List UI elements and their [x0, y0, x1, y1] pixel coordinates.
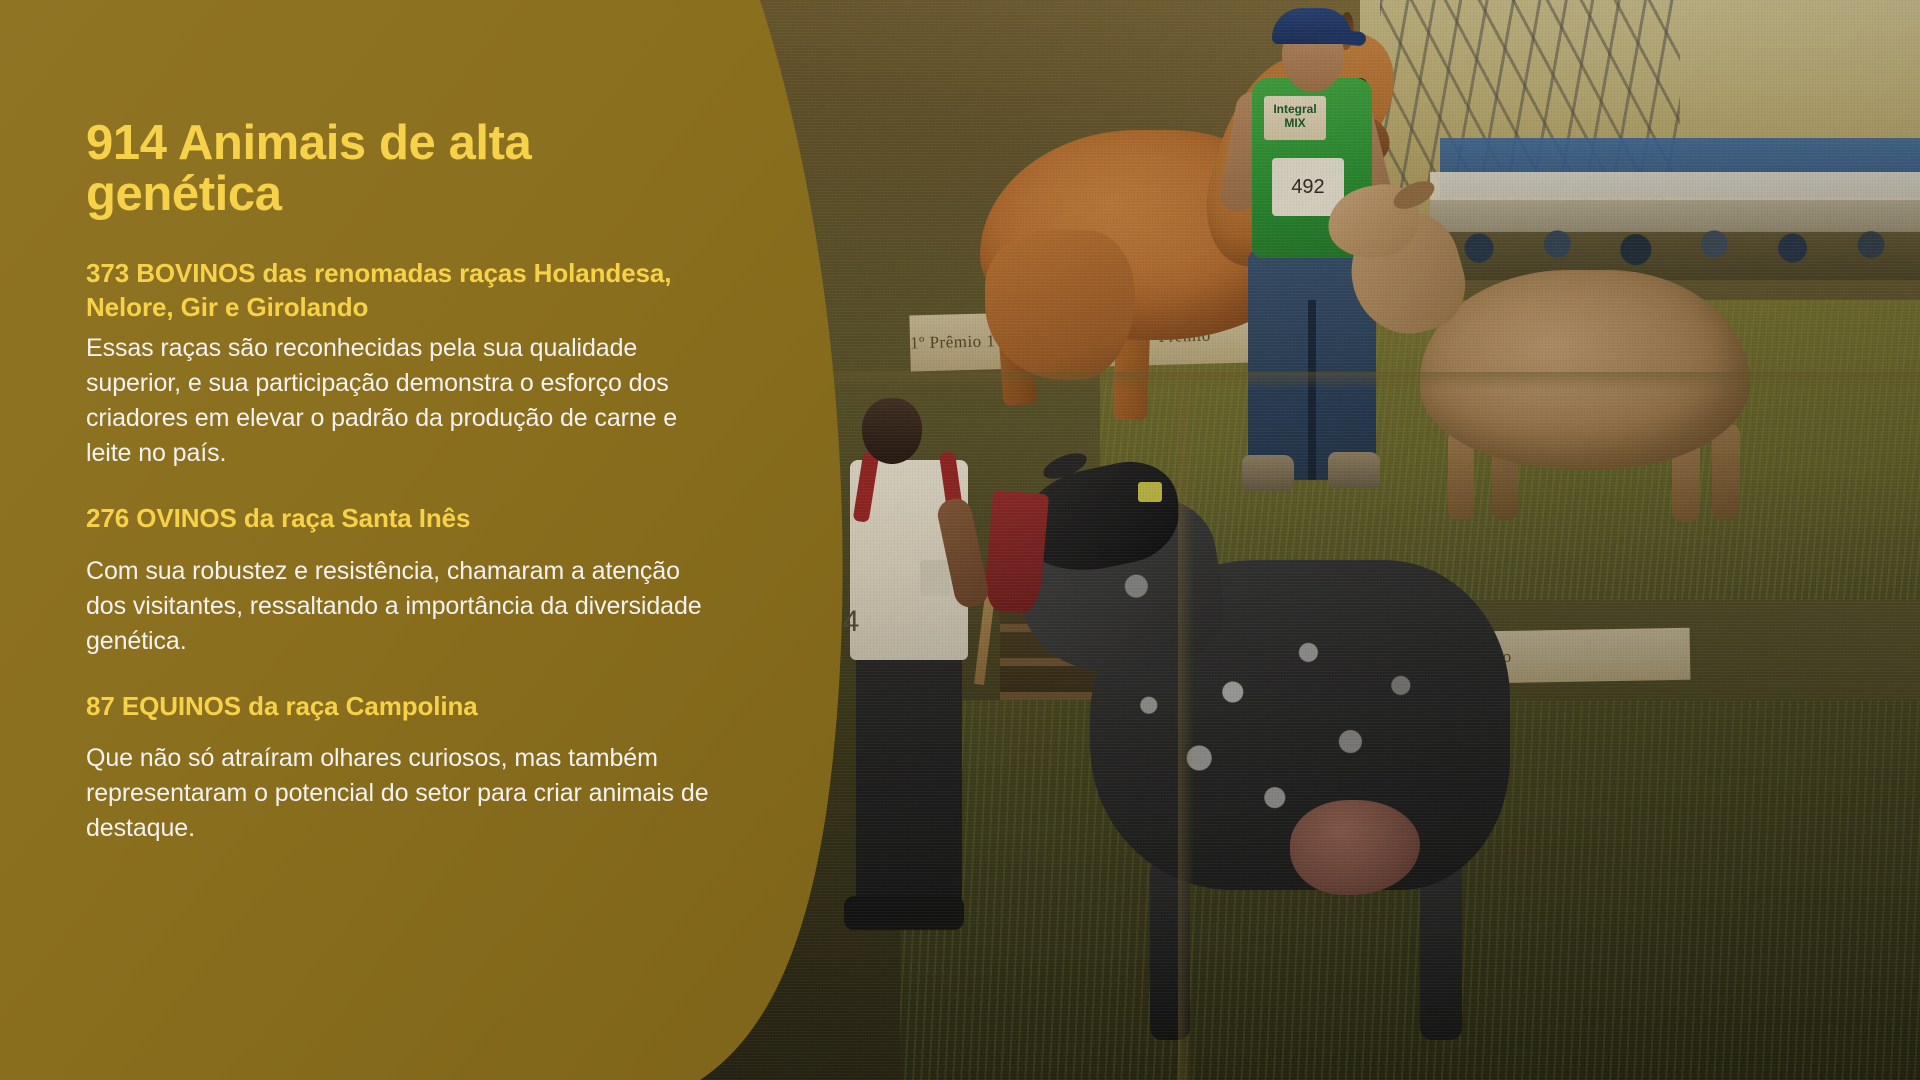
section-equinos-body: Que não só atraíram olhares curiosos, ma… — [86, 741, 726, 846]
cow-ear-tag — [1138, 482, 1162, 502]
child-handler-legs — [856, 650, 962, 910]
section-bovinos-body: Essas raças são reconhecidas pela sua qu… — [86, 331, 726, 471]
section-bovinos: 373 BOVINOS das renomadas raças Holandes… — [86, 256, 726, 471]
child-handler-head — [862, 398, 922, 464]
slide-canvas: 1º Prêmio 1º Prêmio 1º Prêmio 1º Prêmio … — [0, 0, 1920, 1080]
child-handler-shoes — [844, 896, 964, 930]
child-handler-badge — [920, 560, 950, 596]
page-title: 914 Animais de alta genética — [86, 118, 726, 220]
horse-chest — [985, 230, 1135, 380]
child-apron-number: 44 — [826, 598, 886, 646]
text-content: 914 Animais de alta genética 373 BOVINOS… — [86, 118, 726, 846]
section-ovinos-body: Com sua robustez e resistência, chamaram… — [86, 554, 726, 659]
handler-leg-separation — [1308, 300, 1316, 480]
sheep-leg-hind-right — [1712, 424, 1740, 520]
section-bovinos-title: 373 BOVINOS das renomadas raças Holandes… — [86, 256, 726, 325]
sheep-body — [1420, 270, 1750, 470]
handler-shirt-logo: Integral MIX — [1264, 96, 1326, 140]
handler-boot-right — [1328, 452, 1380, 488]
section-equinos-title: 87 EQUINOS da raça Campolina — [86, 689, 726, 724]
section-ovinos-title: 276 OVINOS da raça Santa Inês — [86, 501, 726, 536]
handler-boot-left — [1242, 455, 1294, 491]
cow-front-leg — [1150, 860, 1190, 1040]
crowd-silhouettes — [1430, 200, 1920, 280]
section-equinos: 87 EQUINOS da raça Campolina Que não só … — [86, 689, 726, 847]
section-ovinos: 276 OVINOS da raça Santa Inês Com sua ro… — [86, 501, 726, 659]
